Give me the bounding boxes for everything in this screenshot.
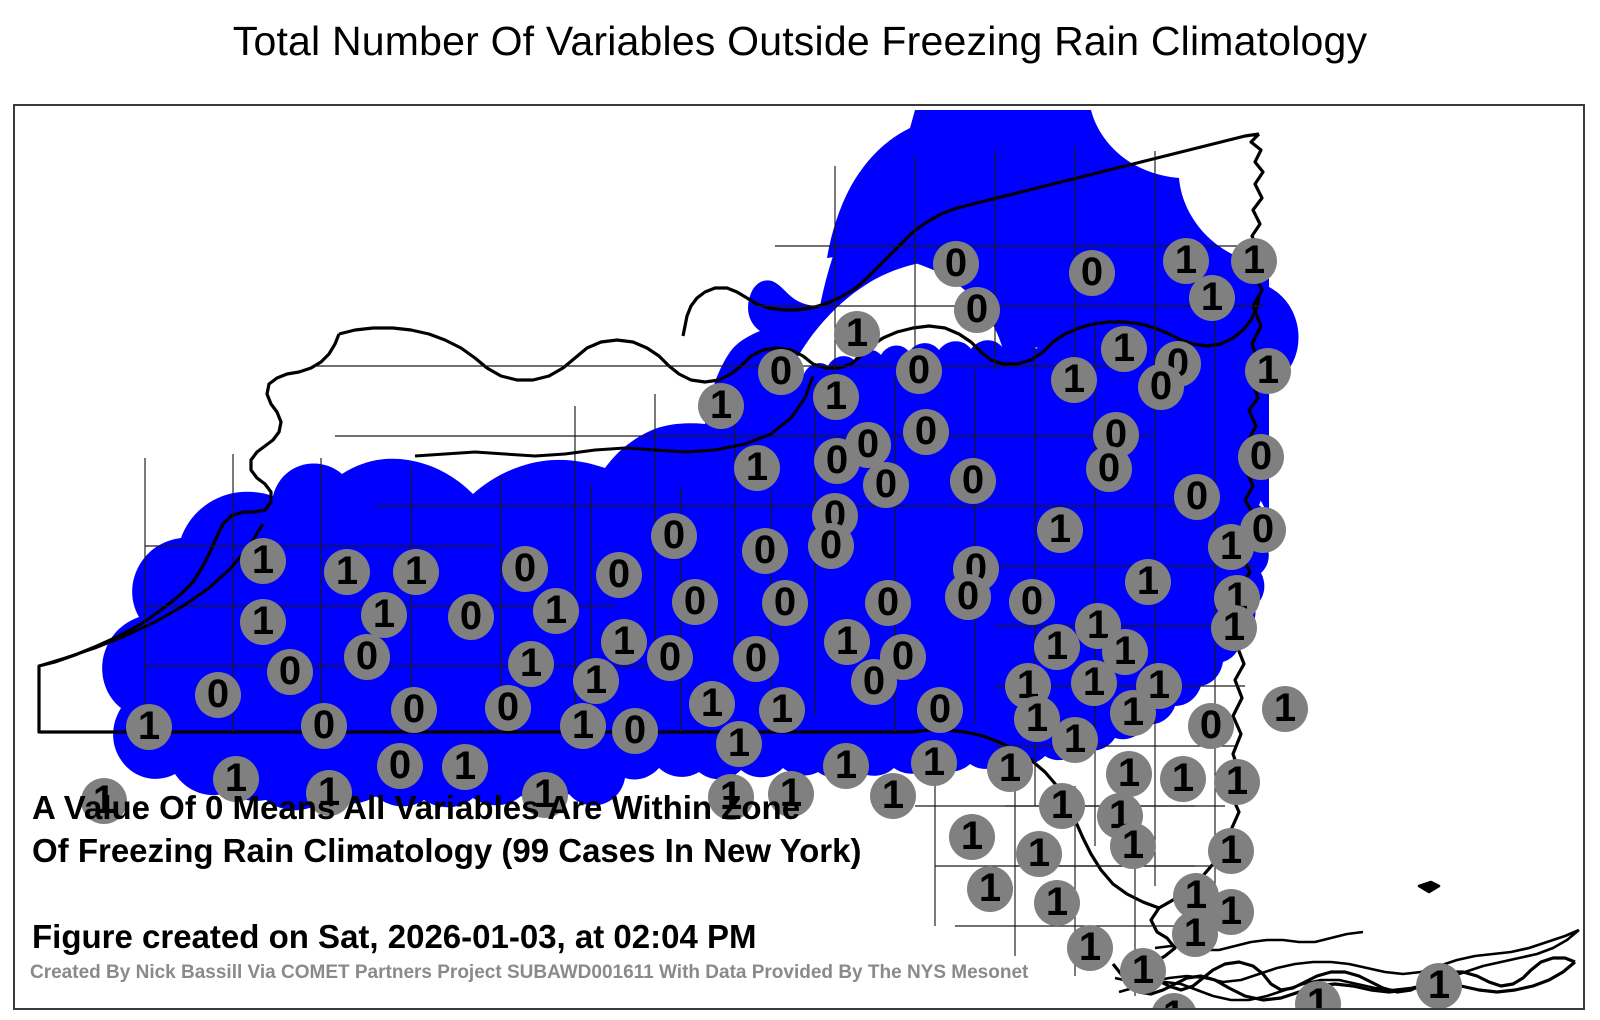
figure-root: Total Number Of Variables Outside Freezi… — [0, 0, 1600, 1020]
station-marker: 1 — [1071, 660, 1117, 706]
annotation-created-timestamp: Figure created on Sat, 2026-01-03, at 02… — [32, 918, 756, 956]
station-marker: 0 — [1188, 703, 1234, 749]
station-value: 1 — [405, 551, 427, 591]
station-value: 1 — [1220, 891, 1242, 931]
station-marker: 0 — [485, 685, 531, 731]
station-value: 1 — [846, 313, 868, 353]
station-value: 1 — [1051, 785, 1073, 825]
station-marker: 1 — [1211, 605, 1257, 651]
station-value: 0 — [313, 705, 335, 745]
station-marker: 0 — [612, 708, 658, 754]
station-value: 1 — [1114, 631, 1136, 671]
station-value: 1 — [520, 643, 542, 683]
station-value: 0 — [929, 689, 951, 729]
station-value: 1 — [1063, 359, 1085, 399]
station-marker: 0 — [301, 703, 347, 749]
station-marker: 0 — [808, 523, 854, 569]
station-value: 0 — [1200, 705, 1222, 745]
station-marker: 1 — [734, 445, 780, 491]
station-marker: 1 — [1120, 948, 1166, 994]
station-value: 0 — [745, 638, 767, 678]
station-marker: 1 — [716, 721, 762, 767]
station-marker: 1 — [240, 538, 286, 584]
station-value: 0 — [908, 350, 930, 390]
station-marker: 1 — [126, 704, 172, 750]
station-marker: 1 — [1110, 823, 1156, 869]
station-marker: 0 — [742, 528, 788, 574]
station-marker: 1 — [601, 619, 647, 665]
station-value: 1 — [1226, 761, 1248, 801]
station-value: 0 — [403, 689, 425, 729]
station-marker: 0 — [917, 687, 963, 733]
station-marker: 1 — [1106, 751, 1152, 797]
station-value: 1 — [1046, 882, 1068, 922]
station-marker: 1 — [240, 599, 286, 645]
station-marker: 0 — [1174, 474, 1220, 520]
station-value: 0 — [608, 554, 630, 594]
station-marker: 0 — [1069, 250, 1115, 296]
block-island-speck — [1419, 882, 1439, 892]
station-marker: 1 — [442, 744, 488, 790]
station-marker: 0 — [933, 241, 979, 287]
station-marker: 0 — [814, 438, 860, 484]
station-marker: 0 — [647, 635, 693, 681]
station-value: 1 — [1163, 995, 1185, 1010]
station-value: 0 — [957, 576, 979, 616]
station-value: 0 — [966, 289, 988, 329]
station-value: 1 — [1175, 240, 1197, 280]
station-value: 1 — [701, 683, 723, 723]
station-value: 0 — [857, 424, 879, 464]
station-value: 1 — [1083, 662, 1105, 702]
station-marker: 0 — [344, 634, 390, 680]
station-marker: 1 — [949, 814, 995, 860]
station-marker: 1 — [1034, 624, 1080, 670]
station-marker: 1 — [1214, 759, 1260, 805]
station-marker: 1 — [1016, 831, 1062, 877]
station-marker: 1 — [1034, 880, 1080, 926]
station-marker: 1 — [698, 383, 744, 429]
station-marker: 1 — [1231, 238, 1277, 284]
station-value: 1 — [1046, 626, 1068, 666]
station-value: 1 — [1201, 277, 1223, 317]
station-value: 1 — [979, 868, 1001, 908]
station-marker: 1 — [834, 311, 880, 357]
credit-line: Created By Nick Bassill Via COMET Partne… — [30, 962, 1028, 984]
station-value: 0 — [684, 581, 706, 621]
station-value: 1 — [1028, 833, 1050, 873]
station-marker: 0 — [377, 743, 423, 789]
station-value: 0 — [826, 440, 848, 480]
station-marker: 1 — [911, 740, 957, 786]
station-marker: 0 — [1138, 364, 1184, 410]
station-value: 1 — [1026, 698, 1048, 738]
station-marker: 0 — [851, 659, 897, 705]
station-marker: 0 — [863, 462, 909, 508]
station-marker: 1 — [1052, 717, 1098, 763]
annotation-line-1: A Value Of 0 Means All Variables Are Wit… — [32, 789, 800, 827]
station-marker: 0 — [733, 636, 779, 682]
station-value: 1 — [1220, 830, 1242, 870]
station-marker: 0 — [762, 580, 808, 626]
station-value: 0 — [1081, 252, 1103, 292]
station-marker: 0 — [945, 574, 991, 620]
station-value: 1 — [923, 742, 945, 782]
station-marker: 0 — [954, 287, 1000, 333]
station-value: 0 — [875, 464, 897, 504]
station-marker: 0 — [1086, 446, 1132, 492]
station-value: 1 — [1172, 758, 1194, 798]
station-value: 0 — [356, 636, 378, 676]
station-value: 1 — [771, 689, 793, 729]
map-panel: 0011101100101011000100000000100011110001… — [13, 104, 1585, 1010]
station-marker: 0 — [1009, 579, 1055, 625]
station-value: 0 — [945, 243, 967, 283]
station-value: 0 — [863, 661, 885, 701]
station-value: 1 — [710, 385, 732, 425]
station-value: 0 — [279, 651, 301, 691]
station-value: 0 — [659, 637, 681, 677]
station-marker: 1 — [361, 592, 407, 638]
station-value: 1 — [961, 816, 983, 856]
station-value: 0 — [754, 530, 776, 570]
station-value: 1 — [1185, 875, 1207, 915]
station-marker: 1 — [1245, 348, 1291, 394]
station-marker: 0 — [195, 672, 241, 718]
station-value: 1 — [252, 601, 274, 641]
station-value: 1 — [728, 723, 750, 763]
station-marker: 0 — [651, 513, 697, 559]
station-marker: 0 — [950, 458, 996, 504]
station-marker: 1 — [560, 703, 606, 749]
station-value: 0 — [892, 636, 914, 676]
station-value: 1 — [613, 621, 635, 661]
station-value: 1 — [1122, 692, 1144, 732]
station-value: 1 — [1184, 913, 1206, 953]
station-value: 1 — [836, 621, 858, 661]
page-title: Total Number Of Variables Outside Freezi… — [0, 18, 1600, 65]
station-marker: 1 — [393, 549, 439, 595]
station-value: 1 — [252, 540, 274, 580]
station-value: 0 — [820, 525, 842, 565]
station-value: 1 — [882, 775, 904, 815]
annotation-line-2: Of Freezing Rain Climatology (99 Cases I… — [32, 832, 861, 870]
station-marker: 0 — [672, 579, 718, 625]
station-marker: 0 — [896, 348, 942, 394]
station-marker: 1 — [1101, 326, 1147, 372]
station-value: 1 — [1132, 950, 1154, 990]
station-marker: 0 — [448, 594, 494, 640]
station-value: 0 — [624, 710, 646, 750]
station-value: 1 — [746, 447, 768, 487]
station-marker: 1 — [823, 743, 869, 789]
station-value: 0 — [663, 515, 685, 555]
station-marker: 1 — [573, 658, 619, 704]
station-value: 1 — [1223, 607, 1245, 647]
station-marker: 1 — [1208, 828, 1254, 874]
station-marker: 1 — [1172, 911, 1218, 957]
station-marker: 1 — [1189, 275, 1235, 321]
station-value: 1 — [454, 746, 476, 786]
station-marker: 1 — [870, 773, 916, 819]
station-value: 1 — [1079, 927, 1101, 967]
station-marker: 0 — [596, 552, 642, 598]
station-value: 0 — [1186, 476, 1208, 516]
station-value: 0 — [514, 548, 536, 588]
station-marker: 1 — [533, 588, 579, 634]
station-value: 1 — [1118, 753, 1140, 793]
station-value: 1 — [1137, 561, 1159, 601]
station-marker: 0 — [267, 649, 313, 695]
station-value: 1 — [999, 748, 1021, 788]
station-marker: 1 — [1051, 357, 1097, 403]
station-value: 1 — [585, 660, 607, 700]
station-marker: 1 — [759, 687, 805, 733]
station-marker: 1 — [1067, 925, 1113, 971]
station-value: 1 — [545, 590, 567, 630]
station-marker: 1 — [1039, 783, 1085, 829]
station-value: 0 — [460, 596, 482, 636]
station-value: 1 — [1113, 328, 1135, 368]
station-value: 0 — [1250, 436, 1272, 476]
station-marker: 1 — [967, 866, 1013, 912]
station-value: 0 — [497, 687, 519, 727]
station-value: 1 — [1257, 350, 1279, 390]
station-value: 0 — [774, 582, 796, 622]
station-value: 0 — [962, 460, 984, 500]
station-value: 1 — [336, 551, 358, 591]
station-value: 0 — [389, 745, 411, 785]
station-value: 1 — [373, 594, 395, 634]
station-value: 0 — [1252, 509, 1274, 549]
station-value: 1 — [825, 376, 847, 416]
station-value: 0 — [1021, 581, 1043, 621]
station-value: 1 — [1428, 965, 1450, 1005]
station-value: 1 — [1274, 688, 1296, 728]
station-marker: 0 — [391, 687, 437, 733]
station-marker: 1 — [508, 641, 554, 687]
station-marker: 0 — [1238, 434, 1284, 480]
station-marker: 0 — [865, 580, 911, 626]
station-value: 1 — [1064, 719, 1086, 759]
station-value: 1 — [1243, 240, 1265, 280]
station-value: 1 — [1220, 526, 1242, 566]
station-marker: 1 — [813, 374, 859, 420]
station-marker: 1 — [1110, 690, 1156, 736]
station-value: 1 — [1122, 825, 1144, 865]
station-value: 0 — [207, 674, 229, 714]
station-value: 1 — [835, 745, 857, 785]
station-marker: 1 — [1037, 507, 1083, 553]
station-value: 1 — [1049, 509, 1071, 549]
station-marker: 1 — [1125, 559, 1171, 605]
station-marker: 1 — [324, 549, 370, 595]
station-value: 1 — [1307, 983, 1329, 1010]
station-marker: 0 — [502, 546, 548, 592]
station-marker: 1 — [1208, 524, 1254, 570]
station-marker: 1 — [1416, 963, 1462, 1009]
station-value: 0 — [1098, 448, 1120, 488]
station-marker: 1 — [987, 746, 1033, 792]
station-marker: 1 — [1262, 686, 1308, 732]
station-marker: 1 — [1160, 756, 1206, 802]
station-marker: 0 — [758, 349, 804, 395]
station-value: 0 — [770, 351, 792, 391]
station-value: 1 — [572, 705, 594, 745]
station-value: 0 — [1150, 366, 1172, 406]
station-value: 0 — [877, 582, 899, 622]
station-marker: 0 — [903, 409, 949, 455]
station-value: 1 — [138, 706, 160, 746]
station-value: 0 — [915, 411, 937, 451]
